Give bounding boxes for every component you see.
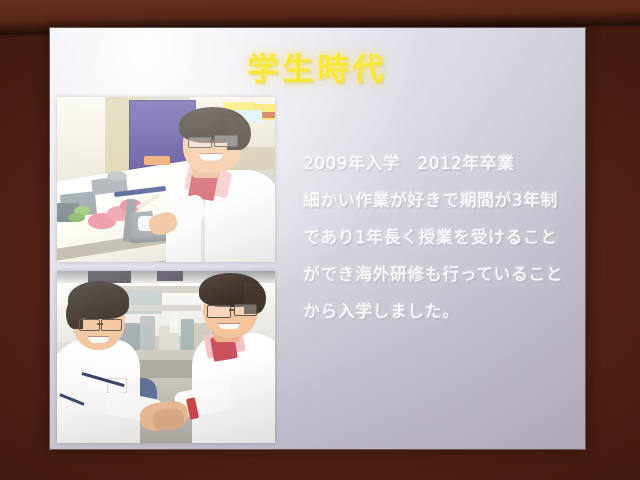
photo-bottom-left-person-glasses-left-lens [79,319,101,331]
photo-bottom-right-person-glasses-left-lens [207,305,231,317]
photo-bottom-right-person-glasses-right-lens [234,304,258,316]
photo-top-glasses-right-lens [214,135,238,147]
photo-bottom-left-person-glasses-right-lens [101,319,123,331]
photo-top-glasses-bridge [210,140,215,143]
body-line-1: 2009年入学 2012年卒業 [303,146,578,183]
photo-top [57,97,275,262]
photo-top-orange-item [144,156,170,164]
photo-top-metal-tray-2 [107,171,127,181]
photo-top-smile [199,153,223,161]
photo-top-glasses-left-lens [188,137,212,149]
photo-bottom-bottle [170,312,179,333]
body-line-2: 細かい作業が好きで期間が3年制 [303,183,578,220]
photo-bottom-left-person-glasses-bridge [97,323,102,325]
projected-slide: 学生時代 [50,28,585,449]
photo-bottom [57,271,275,443]
photo-bottom-ceiling-dark-2 [157,271,183,281]
slide-title: 学生時代 [50,44,585,89]
photo-bottom-left-person-coat [57,340,140,443]
photo-bottom-right-person-glasses-bridge [229,309,234,311]
slide-body-text: 2009年入学 2012年卒業 細かい作業が好きで期間が3年制 であり1年長く授… [303,146,578,331]
screenshot-stage: 学生時代 [0,0,640,480]
photo-bottom-equipment-4 [181,319,194,350]
body-line-5: から入学しました。 [303,294,578,331]
body-line-3: であり1年長く授業を受けること [303,220,578,257]
body-line-4: ができ海外研修も行っていること [303,257,578,294]
photo-bottom-equipment-2 [140,316,155,350]
photo-bottom-handshake-inner [152,407,185,431]
